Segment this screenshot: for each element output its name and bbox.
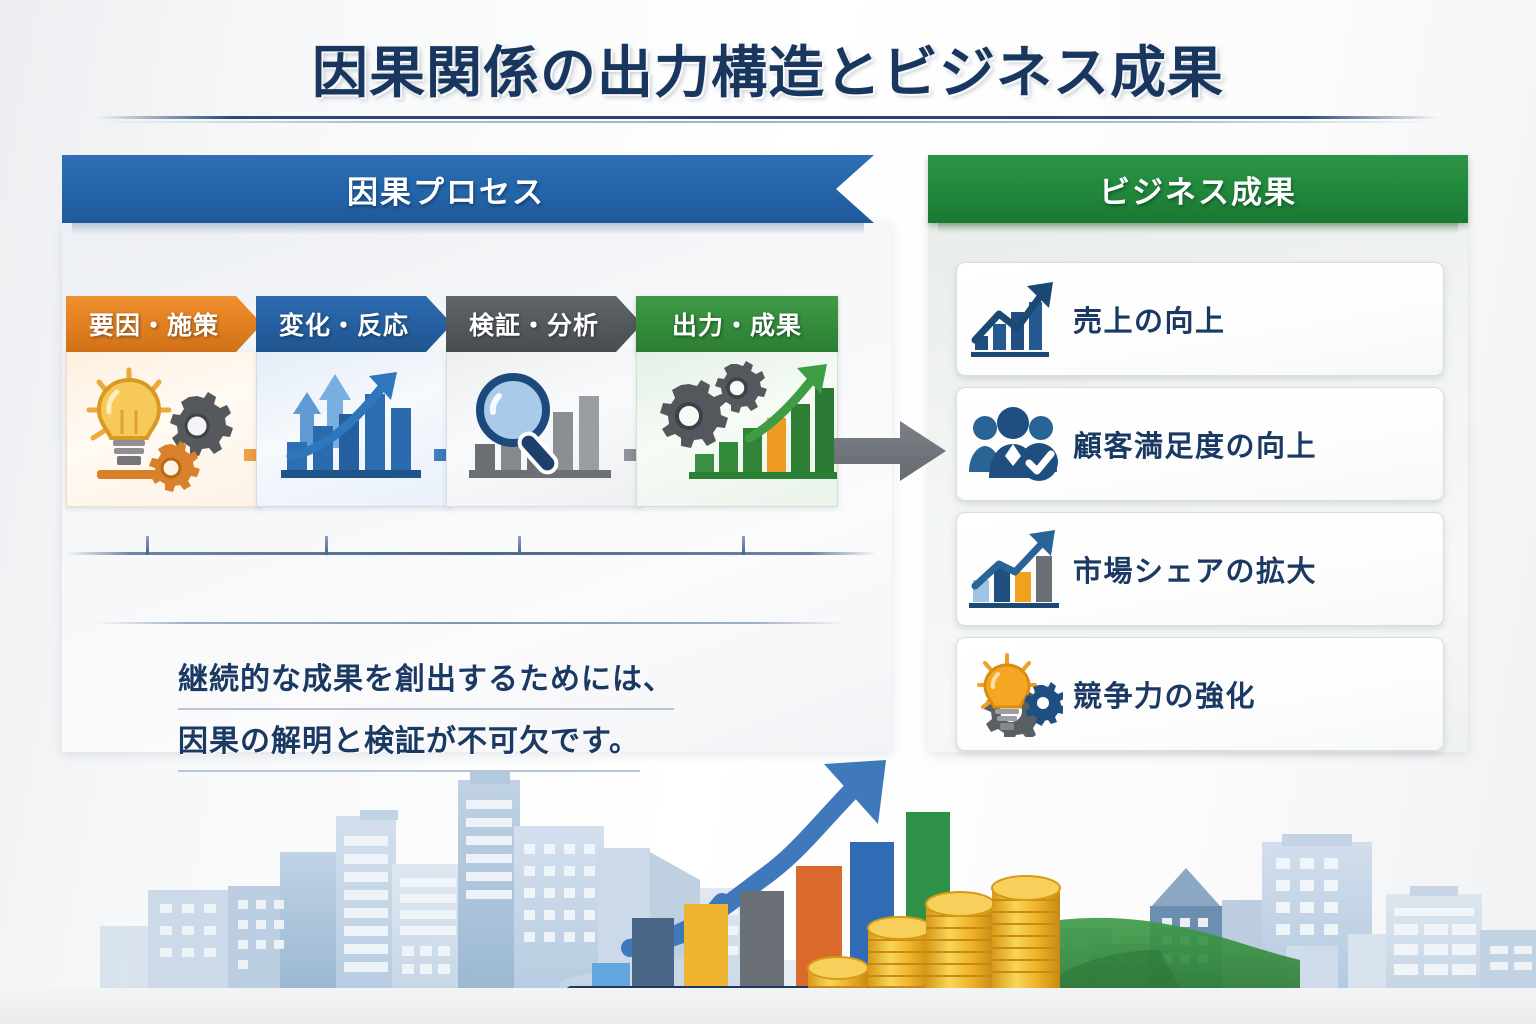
stage-change-response[interactable]: 変化・反応 <box>256 296 452 507</box>
growth-scene-svg <box>0 760 1536 1024</box>
stage-1-body <box>66 352 262 507</box>
lightbulb-gears-icon <box>67 352 262 506</box>
process-banner: 因果プロセス <box>62 155 874 223</box>
bar-chart-up-arrows-icon <box>257 352 452 506</box>
stage-3-body <box>446 352 642 507</box>
outcome-banner: ビジネス成果 <box>928 155 1468 223</box>
timeline-tick-1 <box>146 536 149 555</box>
process-banner-label: 因果プロセス <box>347 167 545 212</box>
stage-1-label: 要因・施策 <box>89 306 219 342</box>
stage-3-label: 検証・分析 <box>469 306 599 342</box>
outcome-card-sales[interactable]: 売上の向上 <box>956 262 1444 376</box>
outcome-label-satisfaction: 顧客満足度の向上 <box>1073 423 1317 465</box>
outcome-card-satisfaction[interactable]: 顧客満足度の向上 <box>956 387 1444 501</box>
stage-2-body <box>256 352 452 507</box>
gears-green-growth-icon <box>637 352 838 506</box>
title-underline-secondary <box>96 121 1440 123</box>
stage-1-tab[interactable]: 要因・施策 <box>66 296 262 352</box>
growth-chart-arrow-icon <box>957 263 1073 375</box>
stage-4-tab[interactable]: 出力・成果 <box>636 296 838 352</box>
market-share-bars-arrow-icon <box>957 513 1073 625</box>
bottom-illustration <box>0 760 1536 1024</box>
magnifier-bar-chart-icon <box>447 352 642 506</box>
process-timeline-axis <box>66 552 876 555</box>
outcome-banner-label: ビジネス成果 <box>1099 167 1297 212</box>
infographic-canvas: 因果関係の出力構造とビジネス成果 因果プロセス ビジネス成果 要因・施策 <box>0 0 1536 1024</box>
outcome-label-sales: 売上の向上 <box>1073 298 1226 340</box>
lightbulb-gear-icon <box>957 638 1073 750</box>
outcome-label-competitiveness: 競争力の強化 <box>1073 673 1256 715</box>
stage-4-body <box>636 352 838 507</box>
page-title: 因果関係の出力構造とビジネス成果 <box>0 28 1536 109</box>
timeline-tick-3 <box>518 536 521 555</box>
stage-4-label: 出力・成果 <box>672 306 802 342</box>
caption-line-1: 継続的な成果を創出するためには、 <box>178 654 674 710</box>
timeline-tick-2 <box>325 536 328 555</box>
outcome-card-market-share[interactable]: 市場シェアの拡大 <box>956 512 1444 626</box>
stage-output-result[interactable]: 出力・成果 <box>636 296 838 507</box>
stage-2-tab[interactable]: 変化・反応 <box>256 296 452 352</box>
stage-verify-analyze[interactable]: 検証・分析 <box>446 296 642 507</box>
title-underline <box>96 116 1440 119</box>
outcome-card-competitiveness[interactable]: 競争力の強化 <box>956 637 1444 751</box>
process-to-outcome-arrow-icon <box>834 418 946 484</box>
stage-3-tab[interactable]: 検証・分析 <box>446 296 642 352</box>
section-divider <box>96 622 846 624</box>
caption-block: 継続的な成果を創出するためには、 因果の解明と検証が不可欠です。 <box>178 654 858 772</box>
process-banner-shadow <box>72 223 864 234</box>
timeline-tick-4 <box>742 536 745 555</box>
ground-strip <box>0 988 1536 1024</box>
people-check-icon <box>957 388 1073 500</box>
stage-cause-measure[interactable]: 要因・施策 <box>66 296 262 507</box>
title-area: 因果関係の出力構造とビジネス成果 <box>0 0 1536 130</box>
stage-2-label: 変化・反応 <box>279 306 409 342</box>
outcome-label-market-share: 市場シェアの拡大 <box>1073 548 1317 590</box>
outcome-banner-shadow <box>938 223 1458 234</box>
